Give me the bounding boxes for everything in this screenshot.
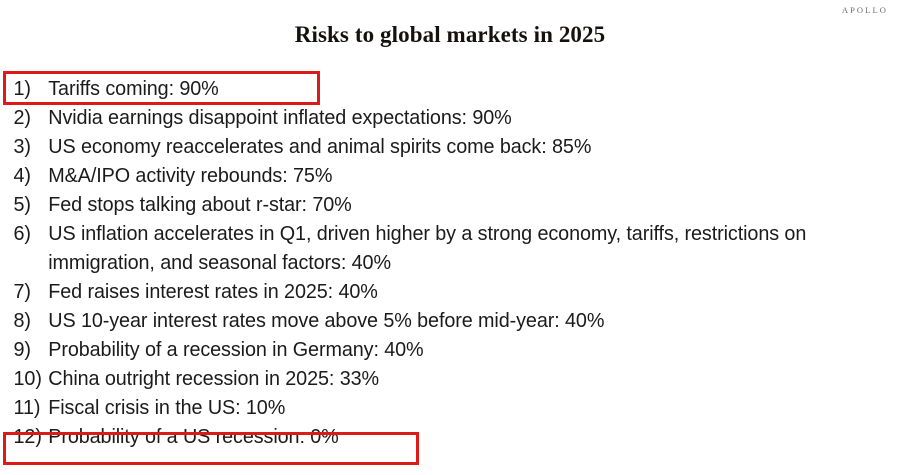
list-item-label: US inflation accelerates in Q1, driven h… [48, 222, 806, 274]
list-item-number: 7) [14, 277, 58, 306]
list-item: 5)Fed stops talking about r-star: 70% [0, 190, 869, 219]
list-item-number: 11) [14, 393, 56, 422]
list-item: 12)Probability of a US recession: 0% [0, 422, 869, 451]
list-item: 9)Probability of a recession in Germany:… [0, 335, 869, 364]
list-item-number: 12) [14, 422, 56, 451]
list-item-number: 1) [14, 74, 58, 103]
list-item: 4)M&A/IPO activity rebounds: 75% [0, 161, 869, 190]
list-item: 8)US 10-year interest rates move above 5… [0, 306, 869, 335]
list-item-label: US 10-year interest rates move above 5% … [48, 309, 604, 332]
list-item-number: 3) [14, 132, 58, 161]
list-item-label: China outright recession in 2025: 33% [48, 367, 379, 390]
list-item-label: Probability of a US recession: 0% [48, 425, 338, 448]
list-item: 11)Fiscal crisis in the US: 10% [0, 393, 869, 422]
list-item-label: M&A/IPO activity rebounds: 75% [48, 164, 332, 187]
risk-list: 1)Tariffs coming: 90%2)Nvidia earnings d… [0, 74, 900, 451]
list-item-number: 6) [14, 219, 58, 248]
list-item-number: 8) [14, 306, 58, 335]
list-item-label: Fed raises interest rates in 2025: 40% [48, 280, 378, 303]
list-item-label: Tariffs coming: 90% [48, 77, 218, 100]
list-item-number: 9) [14, 335, 58, 364]
page-title: Risks to global markets in 2025 [0, 22, 900, 48]
list-item: 7)Fed raises interest rates in 2025: 40% [0, 277, 869, 306]
list-item-number: 5) [14, 190, 58, 219]
list-item: 6)US inflation accelerates in Q1, driven… [0, 219, 869, 277]
apollo-logo: APOLLO [842, 5, 888, 15]
list-item-label: Fiscal crisis in the US: 10% [48, 396, 285, 419]
list-item-label: Fed stops talking about r-star: 70% [48, 193, 351, 216]
list-item-label: Probability of a recession in Germany: 4… [48, 338, 423, 361]
list-item-label: US economy reaccelerates and animal spir… [48, 135, 591, 158]
list-item: 10)China outright recession in 2025: 33% [0, 364, 869, 393]
slide-canvas: APOLLO Risks to global markets in 2025 1… [0, 0, 900, 475]
list-item: 1)Tariffs coming: 90% [0, 74, 869, 103]
list-item-number: 4) [14, 161, 58, 190]
list-item-label: Nvidia earnings disappoint inflated expe… [48, 106, 511, 129]
list-item: 3)US economy reaccelerates and animal sp… [0, 132, 869, 161]
list-item-number: 10) [14, 364, 56, 393]
list-item-number: 2) [14, 103, 58, 132]
list-item: 2)Nvidia earnings disappoint inflated ex… [0, 103, 869, 132]
